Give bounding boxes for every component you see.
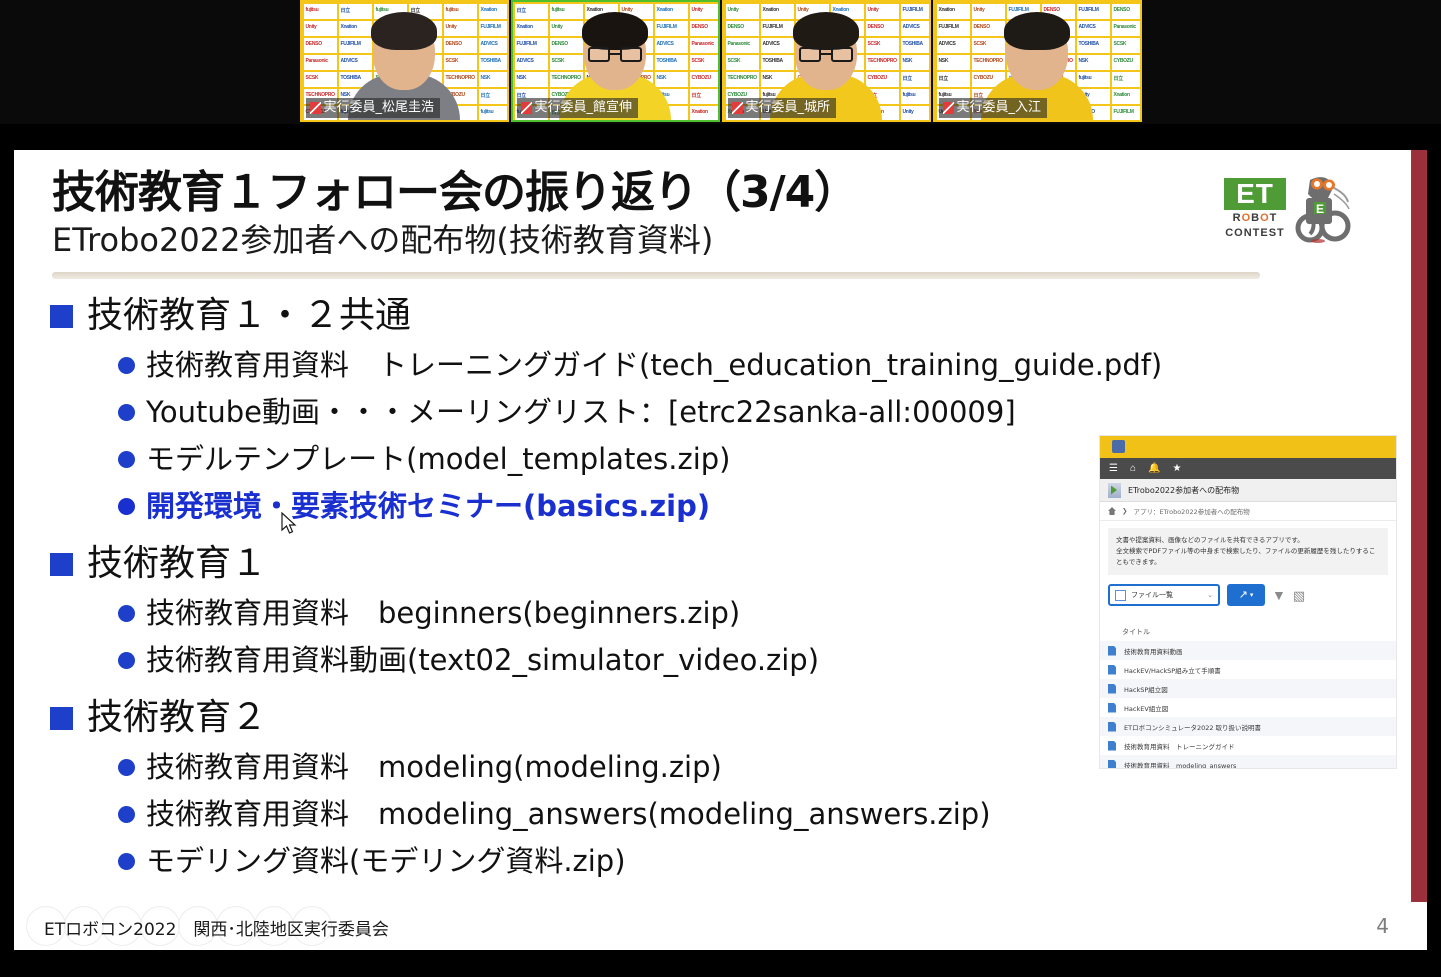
video-tile[interactable]: 日立fujitsuXnationUnityXnationUnityXnation… [511, 0, 720, 122]
sponsor-logo: NSK [481, 75, 491, 81]
sponsor-logo: fujitsu [903, 92, 916, 98]
home-icon[interactable]: ⌂ [1130, 464, 1136, 474]
app-description: 文書や提案資料、画像などのファイルを共有できるアプリです。 全文検索でPDFファ… [1108, 528, 1388, 575]
app-record-row[interactable]: ETロボコンシミュレータ2022 取り扱い説明書 [1100, 717, 1396, 736]
sponsor-logo: CYBOZU [1114, 58, 1133, 64]
bell-icon[interactable]: 🔔 [1148, 464, 1160, 474]
sponsor-logo: Xnation [1114, 92, 1130, 98]
participant-name-badge: 実行委員_城所 [728, 98, 837, 118]
sponsor-logo: FUJIFILM [481, 24, 501, 30]
sponsor-logo: 日立 [939, 75, 948, 82]
sponsor-logo: DENSO [1114, 7, 1130, 13]
bullet-item-label: 技術教育用資料 トレーニングガイド(tech_education_trainin… [146, 342, 1162, 389]
muted-microphone-icon [732, 102, 743, 114]
bullet-item-label: 開発環境・要素技術セミナー(basics.zip) [146, 483, 710, 530]
sponsor-logo: NSK [903, 58, 913, 64]
bullet-item-label: モデリング資料(モデリング資料.zip) [146, 838, 626, 885]
participant-name-badge: 実行委員_松尾圭浩 [306, 98, 441, 118]
participant-name: 実行委員_館宣伸 [535, 99, 633, 116]
sponsor-logo: SCSK [728, 58, 741, 64]
participant-glasses [799, 47, 853, 62]
video-tile[interactable]: UnityXnationUnityXnationUnityFUJIFILMDEN… [722, 0, 931, 122]
sponsor-logo: 日立 [903, 75, 912, 82]
participant-hair [371, 12, 437, 50]
sponsor-logo: NSK [939, 58, 949, 64]
round-bullet-icon [118, 404, 135, 421]
section-heading-label: 技術教育１ [87, 538, 267, 590]
video-participant-strip: fujitsu日立fujitsu日立fujitsuXnationUnityXna… [0, 0, 1441, 124]
title-divider [52, 272, 1260, 279]
sponsor-logo: TECHNOPRO [728, 75, 757, 81]
breadcrumb-home-icon[interactable] [1108, 507, 1116, 515]
sponsor-logo: 日立 [692, 92, 701, 99]
round-bullet-icon [118, 357, 135, 374]
document-icon [1108, 741, 1116, 751]
muted-microphone-icon [310, 102, 321, 114]
app-breadcrumb: ❯ アプリ：ETrobo2022参加者への配布物 [1100, 502, 1396, 521]
record-title: HackEV組立図 [1124, 703, 1168, 713]
app-record-row[interactable]: 技術教育用資料動画 [1100, 641, 1396, 660]
app-record-row[interactable]: HackSP組立図 [1100, 679, 1396, 698]
square-bullet-icon [50, 305, 73, 328]
record-title: 技術教育用資料 modeling_answers [1124, 760, 1236, 770]
sponsor-logo: Panasonic [728, 41, 750, 47]
sponsor-logo: FUJIFILM [1114, 109, 1134, 115]
round-bullet-icon [118, 498, 135, 515]
participant-name: 実行委員_入江 [957, 99, 1042, 116]
sponsor-logo: Xnation [481, 7, 497, 13]
slide-title: 技術教育１フォロー会の振り返り（3/4） [52, 168, 1262, 219]
bullet-section-heading: 技術教育２ [50, 692, 1110, 744]
app-toolbar: ファイル一覧 ⌄ ↗ ▾ ▼ ▧ [1108, 584, 1388, 606]
sponsor-logo: Panasonic [1114, 24, 1136, 30]
app-record-row[interactable]: HackEV組立図 [1100, 698, 1396, 717]
table-column-header: タイトル [1100, 623, 1396, 641]
grid-view-icon [1115, 590, 1126, 601]
document-icon [1108, 722, 1116, 732]
bullet-item: 技術教育用資料 beginners(beginners.zip) [118, 590, 1110, 637]
round-bullet-icon [118, 853, 135, 870]
et-logo-text: ET [1224, 178, 1286, 210]
sponsor-logo: ADVICS [481, 41, 498, 47]
sponsor-logo: SCSK [306, 75, 319, 81]
video-tile[interactable]: XnationUnityFUJIFILMDENSOFUJIFILMDENSOFU… [933, 0, 1142, 122]
bullet-item: 技術教育用資料 modeling(modeling.zip) [118, 744, 1110, 791]
sponsor-logo: fujitsu [481, 109, 494, 115]
record-title: HackEV/HackSP組み立て手順書 [1124, 665, 1221, 675]
bullet-item-label: モデルテンプレート(model_templates.zip) [146, 436, 730, 483]
svg-text:E: E [1316, 202, 1324, 216]
filter-icon[interactable]: ▼ [1272, 588, 1286, 602]
bullet-item-label: Youtube動画・・・メーリングリスト：[etrc22sanka-all:00… [146, 389, 1016, 436]
sponsor-logo: ADVICS [939, 41, 956, 47]
sponsor-logo: 日立 [341, 7, 350, 14]
bullet-item: 開発環境・要素技術セミナー(basics.zip) [118, 483, 1110, 530]
sponsor-logo: 日立 [481, 92, 490, 99]
sponsor-logo: Unity [903, 109, 914, 115]
bullet-item: 技術教育用資料 トレーニングガイド(tech_education_trainin… [118, 342, 1110, 389]
bullet-item-label: 技術教育用資料 modeling(modeling.zip) [146, 744, 722, 791]
app-title: ETrobo2022参加者への配布物 [1128, 485, 1239, 496]
sponsor-logo: NSK [763, 75, 773, 81]
et-logo-robot-text: ROBOT [1224, 212, 1286, 225]
sponsor-logo: DENSO [306, 41, 322, 47]
app-description-line-2: 全文検索でPDFファイル等の中身まで検索したり、ファイルの更新履歴を残したりする… [1116, 546, 1380, 568]
app-header: ETrobo2022参加者への配布物 [1100, 479, 1396, 502]
bullet-item: Youtube動画・・・メーリングリスト：[etrc22sanka-all:00… [118, 389, 1110, 436]
breadcrumb-separator: ❯ [1122, 507, 1127, 515]
footer-text: ETロボコン2022 関西･北陸地区実行委員会 [44, 915, 389, 940]
slide-title-block: 技術教育１フォロー会の振り返り（3/4） ETrobo2022参加者への配布物(… [52, 168, 1262, 259]
slide-body-bullets: 技術教育１・２共通技術教育用資料 トレーニングガイド(tech_educatio… [50, 282, 1110, 885]
section-heading-label: 技術教育１・２共通 [87, 290, 411, 342]
participant-name-badge: 実行委員_入江 [939, 98, 1048, 118]
bullet-item: 技術教育用資料 modeling_answers(modeling_answer… [118, 791, 1110, 838]
slide-subtitle: ETrobo2022参加者への配布物(技術教育資料) [52, 221, 1262, 259]
participant-hair [1004, 12, 1070, 50]
bullet-item-label: 技術教育用資料 beginners(beginners.zip) [146, 590, 740, 637]
app-record-list: 技術教育用資料動画HackEV/HackSP組み立て手順書HackSP組立図Ha… [1100, 641, 1396, 769]
participant-glasses [588, 47, 642, 62]
sponsor-logo: 日立 [1114, 75, 1123, 82]
square-bullet-icon [50, 553, 73, 576]
graph-button[interactable]: ↗ ▾ [1227, 584, 1265, 606]
record-title: HackSP組立図 [1124, 684, 1168, 694]
participant-hair [793, 12, 859, 50]
app-logo-icon [1112, 440, 1125, 453]
et-robot-contest-logo: ET ROBOT CONTEST E [1224, 170, 1352, 250]
sponsor-logo: Unity [974, 7, 985, 13]
sponsor-logo: Unity [728, 7, 739, 13]
zigzag-chart-icon: ↗ [1239, 590, 1248, 601]
chevron-down-icon: ⌄ [1207, 591, 1213, 599]
view-select[interactable]: ファイル一覧 ⌄ [1108, 584, 1220, 606]
bullet-item: モデルテンプレート(model_templates.zip) [118, 436, 1110, 483]
sponsor-logo: Panasonic [692, 41, 714, 47]
square-bullet-icon [50, 707, 73, 730]
bullet-item-label: 技術教育用資料 modeling_answers(modeling_answer… [146, 791, 991, 838]
sponsor-logo: Xnation [517, 24, 533, 30]
sponsor-logo: DENSO [692, 24, 708, 30]
round-bullet-icon [118, 451, 135, 468]
section-heading-label: 技術教育２ [87, 692, 267, 744]
sponsor-logo: ADVICS [517, 58, 534, 64]
bullet-item: 技術教育用資料動画(text02_simulator_video.zip) [118, 637, 1110, 684]
record-title: 技術教育用資料 トレーニングガイド [1124, 741, 1235, 751]
participant-hair [582, 12, 648, 50]
sponsor-logo: TOSHIBA [481, 58, 501, 64]
bullet-section-heading: 技術教育１・２共通 [50, 290, 1110, 342]
graph-chevron-icon: ▾ [1250, 591, 1254, 599]
sponsor-logo: ADVICS [903, 24, 920, 30]
sponsor-logo: NSK [517, 75, 527, 81]
breadcrumb-text: アプリ：ETrobo2022参加者への配布物 [1133, 506, 1249, 516]
bullet-section-heading: 技術教育１ [50, 538, 1110, 590]
et-logo-contest-text: CONTEST [1224, 227, 1286, 240]
sponsor-logo: DENSO [728, 24, 744, 30]
sponsor-logo: FUJIFILM [903, 7, 923, 13]
app-icon [1108, 483, 1121, 498]
document-icon [1108, 703, 1116, 713]
round-bullet-icon [118, 652, 135, 669]
sponsor-logo: FUJIFILM [939, 24, 959, 30]
slide-edge-accent-bar [1411, 150, 1427, 950]
sponsor-logo: CYBOZU [692, 75, 711, 81]
app-record-row[interactable]: 技術教育用資料 modeling_answers [1100, 755, 1396, 769]
sponsor-logo: TOSHIBA [903, 41, 923, 47]
app-titlebar [1100, 436, 1396, 458]
app-description-line-1: 文書や提案資料、画像などのファイルを共有できるアプリです。 [1116, 535, 1380, 546]
mouse-cursor [281, 512, 299, 536]
sponsor-logo: Unity [552, 24, 563, 30]
bar-chart-icon[interactable]: ▧ [1293, 589, 1305, 602]
sponsor-logo: Unity [306, 24, 317, 30]
document-icon [1108, 665, 1116, 675]
sponsor-logo: Xnation [692, 109, 708, 115]
video-tile[interactable]: fujitsu日立fujitsu日立fujitsuXnationUnityXna… [300, 0, 509, 122]
muted-microphone-icon [943, 102, 954, 114]
document-icon [1108, 684, 1116, 694]
participant-name-badge: 実行委員_館宣伸 [517, 98, 639, 118]
app-record-row[interactable]: HackEV/HackSP組み立て手順書 [1100, 660, 1396, 679]
round-bullet-icon [118, 759, 135, 776]
round-bullet-icon [118, 605, 135, 622]
sponsor-logo: Panasonic [306, 58, 328, 64]
bullet-item-label: 技術教育用資料動画(text02_simulator_video.zip) [146, 637, 819, 684]
star-icon[interactable]: ★ [1172, 464, 1181, 474]
presentation-slide: 技術教育１フォロー会の振り返り（3/4） ETrobo2022参加者への配布物(… [14, 150, 1427, 950]
record-title: 技術教育用資料動画 [1124, 646, 1183, 656]
page-number: 4 [1376, 914, 1389, 938]
embedded-app-screenshot: ☰ ⌂ 🔔 ★ ETrobo2022参加者への配布物 ❯ アプリ：ETrobo2… [1099, 435, 1397, 769]
muted-microphone-icon [521, 102, 532, 114]
view-select-value: ファイル一覧 [1131, 590, 1173, 600]
sponsor-logo: Xnation [939, 7, 955, 13]
sponsor-logo: 日立 [517, 7, 526, 14]
record-title: ETロボコンシミュレータ2022 取り扱い説明書 [1124, 722, 1261, 732]
sponsor-logo: Unity [692, 7, 703, 13]
sponsor-logo: SCSK [1114, 41, 1127, 47]
sponsor-logo: FUJIFILM [517, 41, 537, 47]
participant-name: 実行委員_松尾圭浩 [324, 99, 435, 116]
participant-name: 実行委員_城所 [746, 99, 831, 116]
document-icon [1108, 646, 1116, 656]
app-record-row[interactable]: 技術教育用資料 トレーニングガイド [1100, 736, 1396, 755]
et-logo-mark: ET ROBOT CONTEST [1224, 178, 1286, 240]
sponsor-logo: fujitsu [306, 7, 319, 13]
document-icon [1108, 760, 1116, 770]
app-navbar: ☰ ⌂ 🔔 ★ [1100, 458, 1396, 479]
robot-mascot-icon: E [1288, 170, 1352, 244]
slide-footer: ETロボコン2022 関西･北陸地区実行委員会 4 [14, 902, 1427, 950]
round-bullet-icon [118, 806, 135, 823]
bullet-item: モデリング資料(モデリング資料.zip) [118, 838, 1110, 885]
sponsor-logo: SCSK [692, 58, 705, 64]
hamburger-icon[interactable]: ☰ [1109, 464, 1118, 474]
